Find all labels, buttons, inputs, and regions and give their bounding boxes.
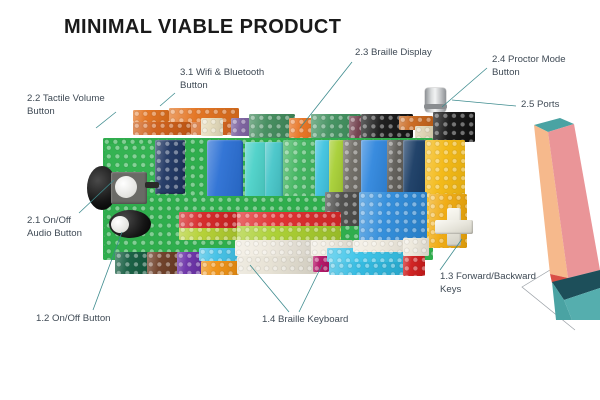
brick-tan-top xyxy=(201,118,223,136)
onoff-audio-button[interactable] xyxy=(115,176,137,198)
callout-proctor-mode-button: 2.4 Proctor Mode Button xyxy=(492,54,592,79)
callout-braille-display: 2.3 Braille Display xyxy=(355,47,465,60)
brick-teal-display-b xyxy=(265,142,283,204)
callout-onoff-audio-button: 2.1 On/Off Audio Button xyxy=(27,215,127,240)
white-cane-3d-illustration xyxy=(512,110,600,320)
forward-backward-dpad[interactable] xyxy=(435,208,473,246)
keyboard-brick-white-a[interactable] xyxy=(235,240,313,256)
keyboard-brick-darkgreen[interactable] xyxy=(115,252,151,274)
keyboard-brick-red-corner[interactable] xyxy=(403,256,425,276)
page-title: MINIMAL VIABLE PRODUCT xyxy=(64,16,341,39)
proctor-mode-button-collar xyxy=(424,104,447,109)
leader-proctor-mode xyxy=(442,68,487,107)
keyboard-brick-orange[interactable] xyxy=(201,261,239,275)
keyboard-brick-white-e[interactable] xyxy=(403,238,429,256)
lego-prototype-device[interactable] xyxy=(103,104,471,276)
braille-display-lime-strip[interactable] xyxy=(235,226,341,240)
brick-black-top-b xyxy=(433,112,475,142)
dpad-horizontal-bar[interactable] xyxy=(435,220,473,234)
brick-blue-tall xyxy=(207,140,243,204)
callout-braille-keyboard: 1.4 Braille Keyboard xyxy=(262,314,392,327)
brick-teal-display-a xyxy=(245,142,267,204)
volume-wheel-axle xyxy=(145,182,159,188)
keyboard-brick-white-b[interactable] xyxy=(237,256,317,274)
braille-display-lime-strip-2[interactable] xyxy=(179,226,237,240)
callout-tactile-volume-button: 2.2 Tactile Volume Button xyxy=(27,93,139,118)
braille-display-red-strip-2[interactable] xyxy=(179,212,237,228)
keyboard-brick-brown[interactable] xyxy=(147,252,181,274)
slide-canvas: MINIMAL VIABLE PRODUCT xyxy=(0,0,600,400)
keyboard-brick-cyan-c[interactable] xyxy=(329,262,405,275)
callout-wifi-bluetooth-button: 3.1 Wifi & Bluetooth Button xyxy=(180,67,308,92)
brick-navy-left xyxy=(155,140,185,194)
callout-onoff-button: 1.2 On/Off Button xyxy=(36,313,156,326)
brick-orange-top-left-2 xyxy=(133,122,191,135)
